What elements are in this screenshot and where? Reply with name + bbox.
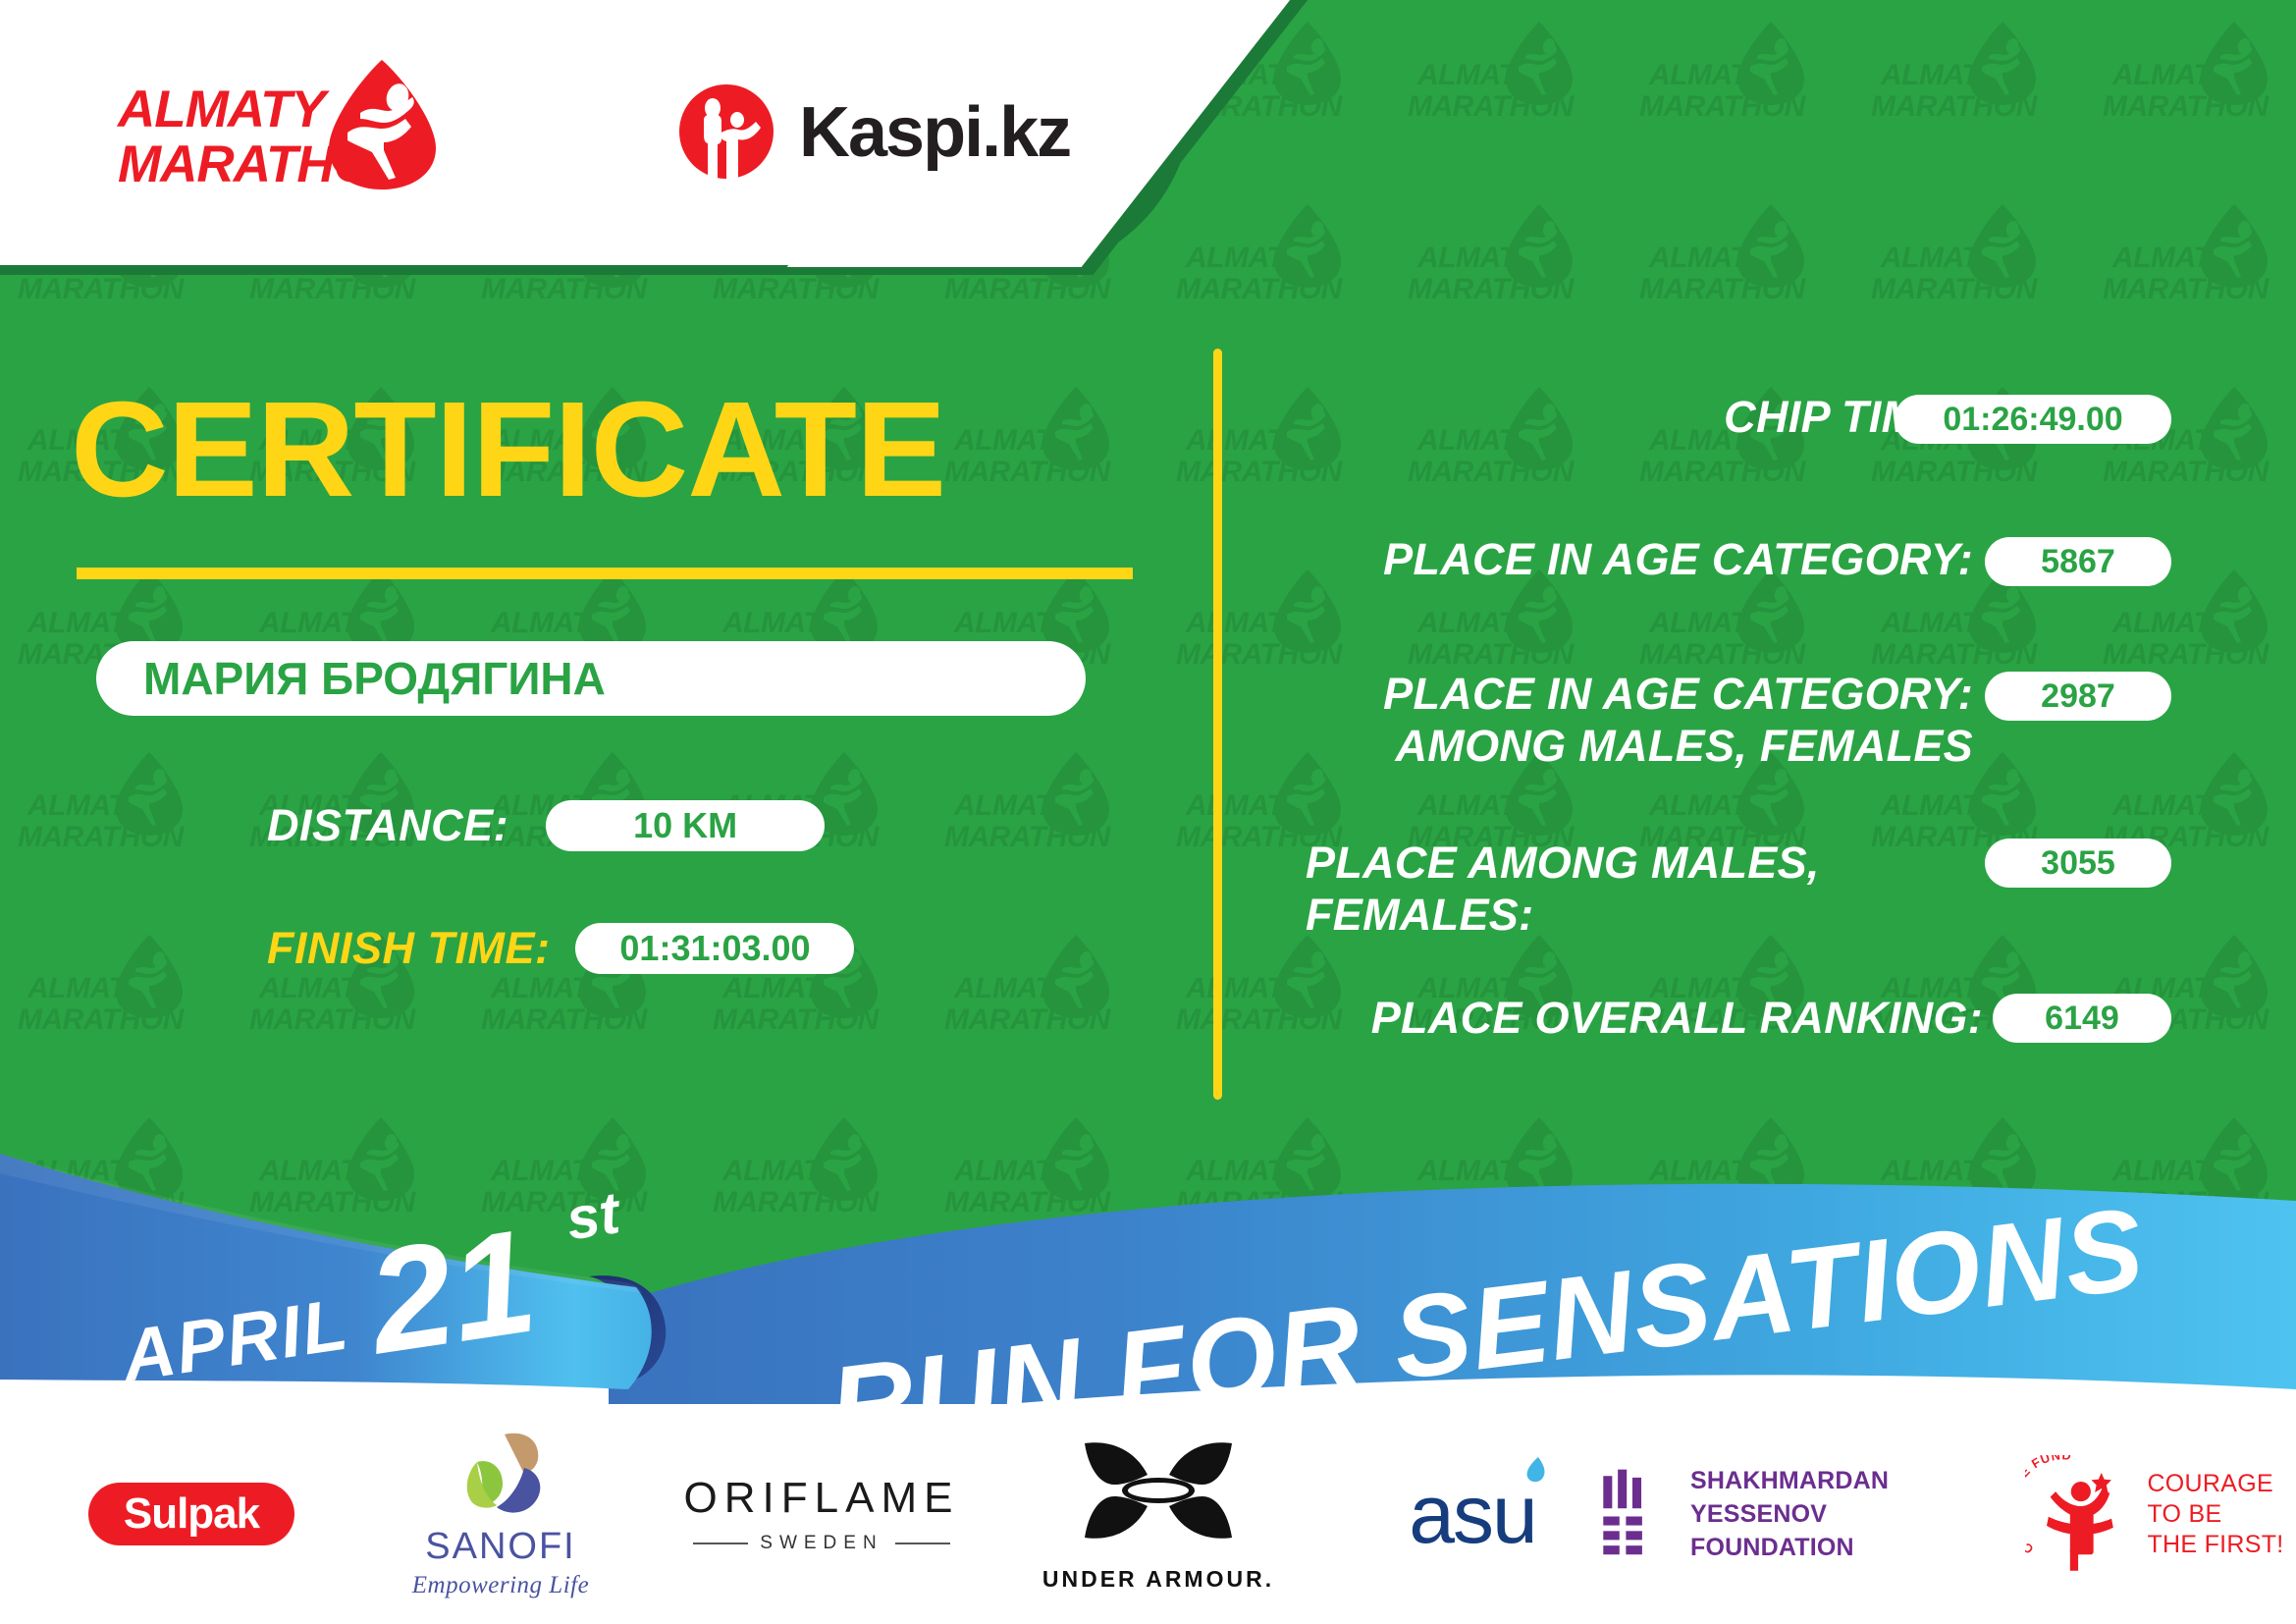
sponsor-name-under-armour: UNDER ARMOUR. xyxy=(1042,1566,1274,1593)
sponsor-name-oriflame: ORIFLAME xyxy=(684,1474,960,1523)
certificate-page: ALMATYMARATHON xyxy=(0,0,2296,1624)
sponsor-logo-under-armour: UNDER ARMOUR. xyxy=(1011,1404,1306,1624)
stat-label-place-overall-ranking: PLACE OVERALL RANKING: xyxy=(1306,992,1983,1044)
courage-runner-icon: CORPORATE FUND xyxy=(2025,1455,2133,1573)
sponsor-tagline-sanofi: Empowering Life xyxy=(412,1572,589,1599)
sponsor-logo-courage: CORPORATE FUND COURAGE TO BE THE FIRST! xyxy=(2022,1404,2287,1624)
sponsor-logo-oriflame: ORIFLAME SWEDEN xyxy=(660,1404,984,1624)
asu-droplet-icon xyxy=(1517,1455,1556,1485)
participant-name: МАРИЯ БРОДЯГИНА xyxy=(143,652,606,705)
sponsor-logo-asu: asu xyxy=(1335,1404,1610,1624)
ribbon-ordinal: st xyxy=(562,1179,627,1253)
stat-row-finish-time: FINISH TIME: 01:31:03.00 xyxy=(267,923,854,974)
column-divider xyxy=(1213,349,1222,1100)
sponsor-strip: Sulpak SANOFI Empowering Life ORIFLAME xyxy=(0,1404,2296,1624)
sponsor-name-yessenov: SHAKHMARDAN YESSENOV FOUNDATION xyxy=(1690,1464,2012,1564)
stat-value-place-age-category: 5867 xyxy=(1985,537,2171,586)
stat-label-place-age-category-among: PLACE IN AGE CATEGORY: AMONG MALES, FEMA… xyxy=(1306,668,1973,772)
sponsor-sub-courage: COURAGE TO BE THE FIRST! xyxy=(2147,1469,2283,1560)
sponsor-name-sulpak: Sulpak xyxy=(124,1489,259,1539)
kaspi-people-icon xyxy=(677,82,775,181)
runner-drop-icon xyxy=(321,56,444,193)
oriflame-rule-right xyxy=(895,1543,950,1544)
yessenov-mark-icon xyxy=(1600,1467,1665,1561)
stat-label-chip-time: CHIP TIME: xyxy=(1306,391,1963,443)
under-armour-mark-icon xyxy=(1075,1435,1242,1553)
sponsor-logo-sulpak: Sulpak xyxy=(39,1404,344,1624)
stat-value-place-overall-ranking: 6149 xyxy=(1993,994,2171,1043)
sponsor-name-asu: asu xyxy=(1409,1473,1535,1555)
stat-label-distance: DISTANCE: xyxy=(267,800,508,851)
almaty-marathon-logo: ALMATYMARATHON xyxy=(118,61,432,189)
stat-row-distance: DISTANCE: 10 KM xyxy=(267,800,825,851)
kaspi-logo-text: Kaspi.kz xyxy=(799,92,1070,173)
stat-label-place-among-males-females: PLACE AMONG MALES, FEMALES: xyxy=(1306,837,1973,941)
event-ribbon: APRIL 21 st RUN FOR SENSATIONS xyxy=(0,1095,2296,1419)
ribbon-day: 21 xyxy=(355,1198,545,1385)
sponsor-logo-yessenov: SHAKHMARDAN YESSENOV FOUNDATION xyxy=(1600,1404,2012,1624)
stat-value-place-among-males-females: 3055 xyxy=(1985,839,2171,888)
stat-value-chip-time: 01:26:49.00 xyxy=(1895,395,2171,444)
stat-label-finish-time: FINISH TIME: xyxy=(267,923,550,974)
sanofi-mark-icon xyxy=(442,1429,560,1517)
sponsor-sub-oriflame: SWEDEN xyxy=(760,1533,882,1554)
title-underline xyxy=(77,568,1133,579)
kaspi-logo: Kaspi.kz xyxy=(677,90,1090,198)
participant-name-field: МАРИЯ БРОДЯГИНА xyxy=(96,641,1086,716)
sponsor-name-sanofi: SANOFI xyxy=(412,1526,589,1568)
stat-value-finish-time: 01:31:03.00 xyxy=(575,923,854,974)
page-title: CERTIFICATE xyxy=(71,376,945,523)
stat-value-place-age-category-among: 2987 xyxy=(1985,672,2171,721)
stat-value-distance: 10 KM xyxy=(546,800,825,851)
stat-label-place-age-category: PLACE IN AGE CATEGORY: xyxy=(1306,533,1973,585)
sponsor-logo-sanofi: SANOFI Empowering Life xyxy=(353,1404,648,1624)
oriflame-rule-left xyxy=(693,1543,748,1544)
